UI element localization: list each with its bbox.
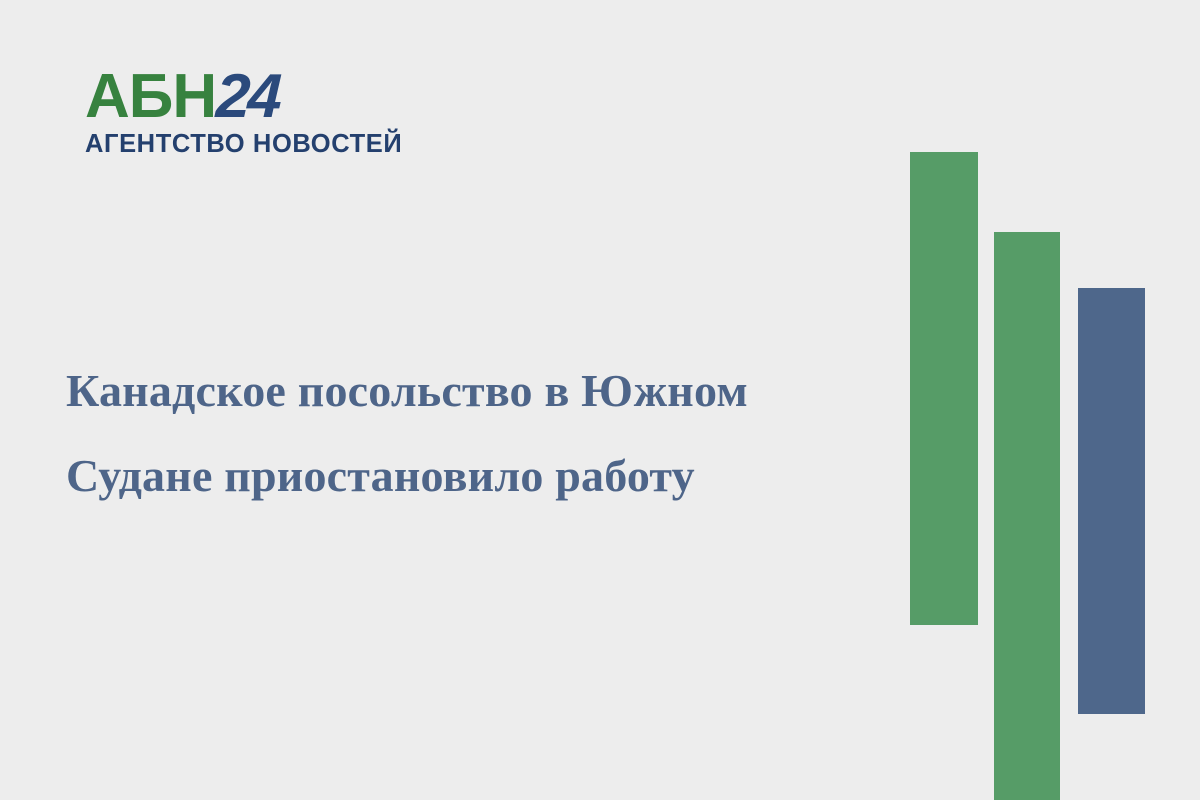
news-card: АБН24 АГЕНТСТВО НОВОСТЕЙ Канадское посол… <box>0 0 1200 800</box>
logo-wordmark: АБН24 <box>85 66 375 128</box>
page-title: Канадское посольство в Южном Судане прио… <box>66 348 876 518</box>
decorative-bar-3 <box>1078 288 1145 714</box>
logo-tagline: АГЕНТСТВО НОВОСТЕЙ <box>85 131 375 158</box>
decorative-bar-2 <box>994 232 1060 800</box>
abn24-logo[interactable]: АБН24 АГЕНТСТВО НОВОСТЕЙ <box>85 66 375 158</box>
logo-text-24: 24 <box>215 66 280 128</box>
logo-text-abn: АБН <box>85 62 216 131</box>
decorative-bar-1 <box>910 152 978 625</box>
